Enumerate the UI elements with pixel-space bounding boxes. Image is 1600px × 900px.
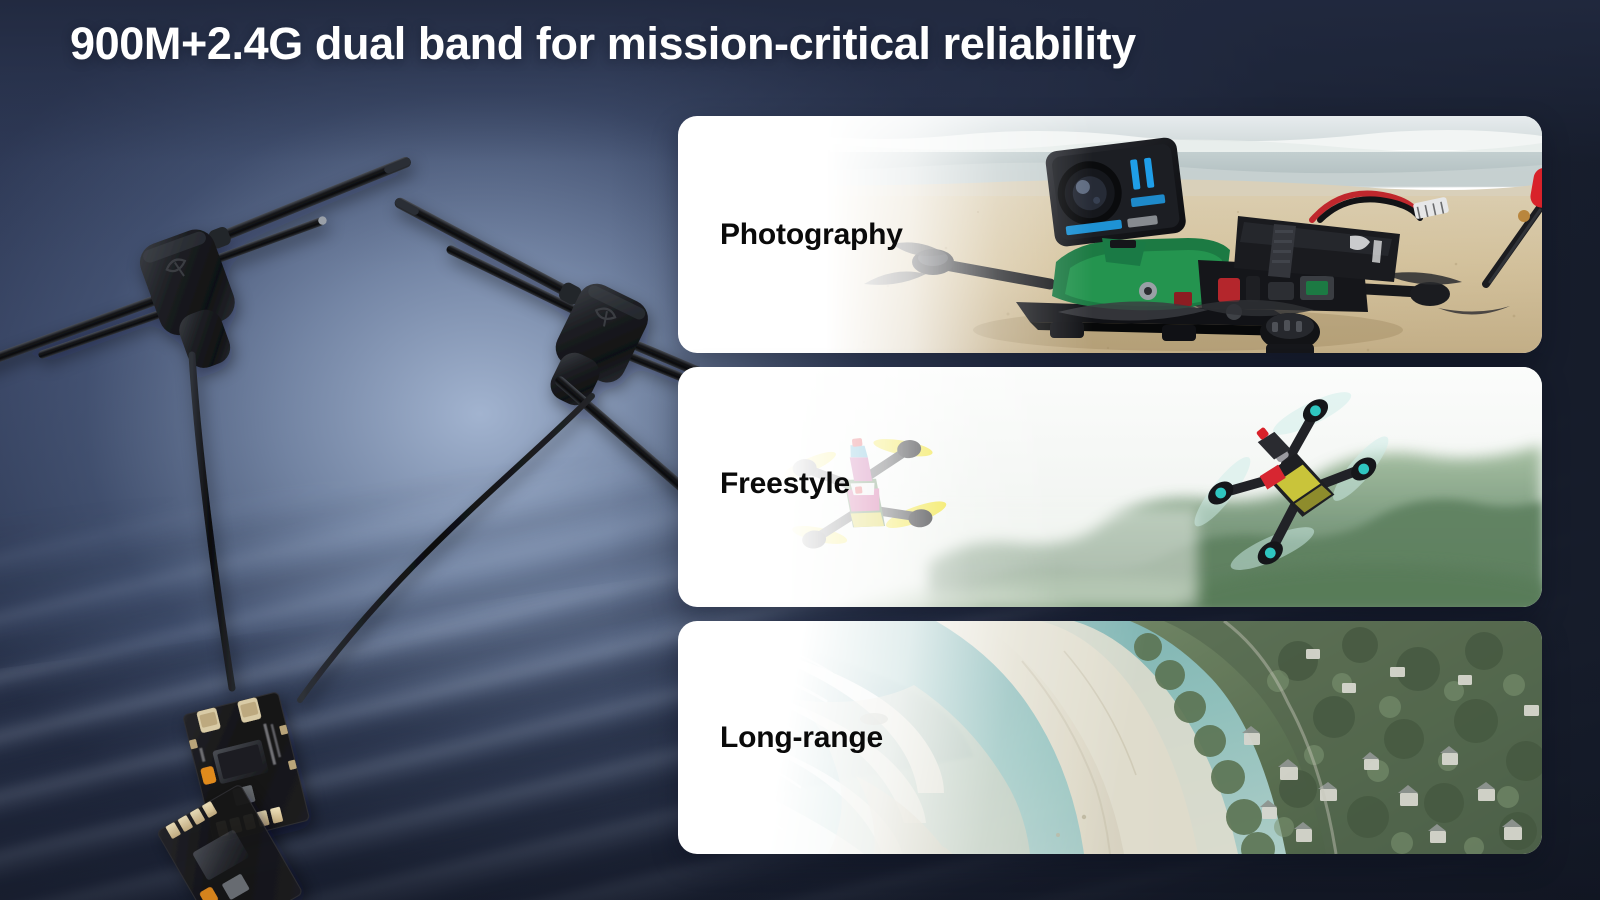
- promo-banner: 900M+2.4G dual band for mission-critical…: [0, 0, 1600, 900]
- t-dipole-antenna-upper-left: [0, 155, 413, 688]
- feature-card-photography[interactable]: Photography: [678, 116, 1542, 353]
- card-label-long-range: Long-range: [720, 721, 883, 755]
- t-dipole-antenna-center: [300, 196, 700, 700]
- card-label-freestyle: Freestyle: [720, 467, 850, 501]
- feature-card-long-range[interactable]: Long-range: [678, 621, 1542, 854]
- card-label-photography: Photography: [720, 218, 903, 252]
- product-antenna-assembly: [0, 0, 700, 900]
- feature-card-freestyle[interactable]: Freestyle: [678, 367, 1542, 607]
